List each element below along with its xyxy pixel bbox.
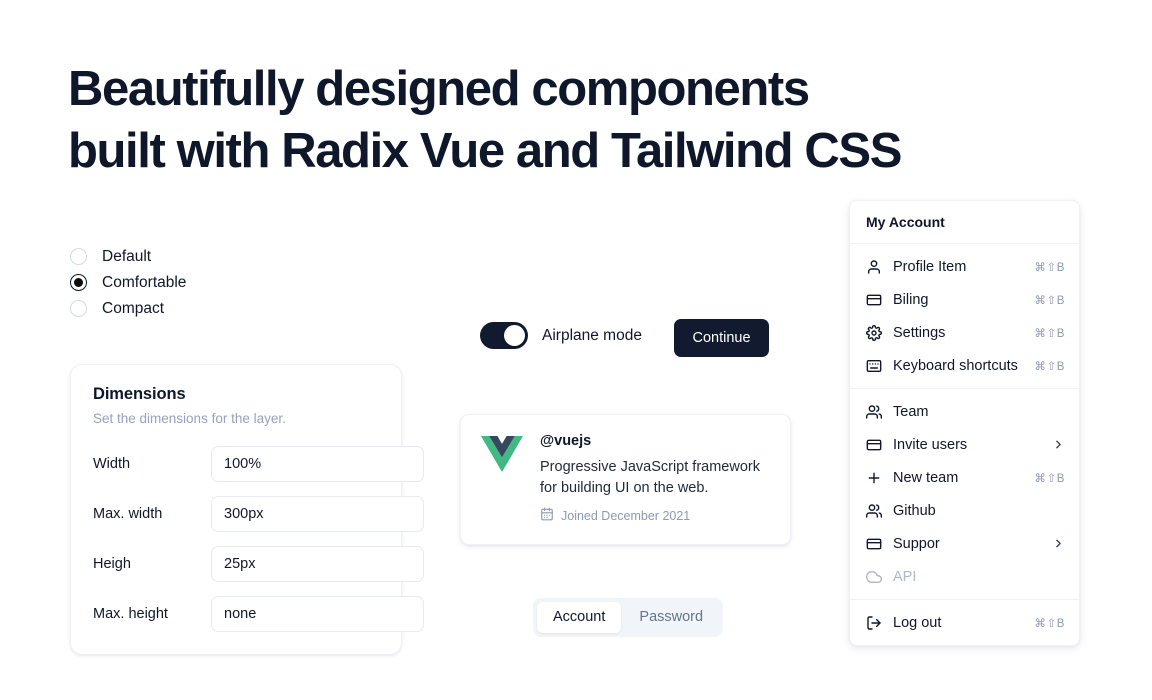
plus-icon [866,470,882,486]
menu-item-label: Biling [893,292,1023,308]
hover-card-joined: Joined December 2021 [540,507,770,524]
menu-item-label: Invite users [893,437,1041,453]
menu-item-shortcut: ⌘⇧B [1034,471,1065,485]
dropdown-menu-my-account: My Account Profile Item⌘⇧BBiling⌘⇧BSetti… [849,200,1080,646]
airplane-mode-switch[interactable] [480,322,528,349]
menu-label: My Account [850,201,1079,243]
keyboard-icon [866,358,882,374]
menu-item-keyboard-shortcuts[interactable]: Keyboard shortcuts⌘⇧B [850,349,1079,382]
hover-card-joined-text: Joined December 2021 [561,509,690,523]
radio-indicator-icon[interactable] [70,300,87,317]
radio-option-default[interactable]: Default [70,248,186,265]
radio-option-label: Comfortable [102,275,186,291]
menu-item-team[interactable]: Team [850,395,1079,428]
menu-item-github[interactable]: Github [850,494,1079,527]
hover-card-body: @vuejs Progressive JavaScript framework … [540,433,770,524]
radio-option-label: Default [102,249,151,265]
dimensions-card: Dimensions Set the dimensions for the la… [70,364,402,655]
dimension-label: Heigh [93,556,211,572]
dimension-row: Heigh [93,546,379,582]
menu-item-settings[interactable]: Settings⌘⇧B [850,316,1079,349]
menu-item-label: Settings [893,325,1023,341]
airplane-mode-label: Airplane mode [542,327,642,345]
menu-item-label: Github [893,503,1065,519]
dimensions-fields: WidthMax. widthHeighMax. height [93,446,379,632]
dimension-input[interactable] [211,596,424,632]
hover-card-description: Progressive JavaScript framework for bui… [540,457,770,499]
menu-group: TeamInvite usersNew team⌘⇧BGithubSupporA… [850,389,1079,599]
menu-item-label: Team [893,404,1065,420]
radio-option-comfortable[interactable]: Comfortable [70,274,186,291]
continue-button[interactable]: Continue [674,319,769,357]
menu-item-biling[interactable]: Biling⌘⇧B [850,283,1079,316]
menu-item-label: New team [893,470,1023,486]
menu-item-label: API [893,569,1065,585]
menu-item-suppor[interactable]: Suppor [850,527,1079,560]
dimension-input[interactable] [211,446,424,482]
dimension-label: Max. height [93,606,211,622]
menu-item-invite-users[interactable]: Invite users [850,428,1079,461]
menu-group: Profile Item⌘⇧BBiling⌘⇧BSettings⌘⇧BKeybo… [850,244,1079,388]
menu-item-profile-item[interactable]: Profile Item⌘⇧B [850,250,1079,283]
dimensions-card-description: Set the dimensions for the layer. [93,411,379,426]
users-icon [866,503,882,519]
menu-item-api: API [850,560,1079,593]
menu-item-shortcut: ⌘⇧B [1034,359,1065,373]
dimension-input[interactable] [211,496,424,532]
tab-password[interactable]: Password [623,602,719,633]
menu-item-log-out[interactable]: Log out⌘⇧B [850,606,1079,639]
dimension-row: Max. width [93,496,379,532]
credit-card-icon [866,536,882,552]
radio-indicator-icon[interactable] [70,274,87,291]
hover-card-vuejs: @vuejs Progressive JavaScript framework … [460,414,791,545]
cloud-icon [866,569,882,585]
menu-item-label: Keyboard shortcuts [893,358,1023,374]
dimensions-card-title: Dimensions [93,385,379,404]
airplane-mode-row: Airplane mode [480,322,642,349]
chevron-right-icon [1052,537,1065,550]
radio-option-label: Compact [102,301,164,317]
hover-card-handle: @vuejs [540,433,770,449]
log-out-icon [866,615,882,631]
menu-item-shortcut: ⌘⇧B [1034,326,1065,340]
radio-group-density: DefaultComfortableCompact [70,248,186,317]
radio-option-compact[interactable]: Compact [70,300,186,317]
dimension-input[interactable] [211,546,424,582]
users-icon [866,404,882,420]
gear-icon [866,325,882,341]
page-title: Beautifully designed components built wi… [68,58,1028,182]
calendar-icon [540,507,554,524]
dimension-label: Max. width [93,506,211,522]
menu-item-shortcut: ⌘⇧B [1034,616,1065,630]
credit-card-icon [866,437,882,453]
menu-item-label: Suppor [893,536,1041,552]
menu-item-shortcut: ⌘⇧B [1034,260,1065,274]
dimension-row: Width [93,446,379,482]
radio-indicator-icon[interactable] [70,248,87,265]
menu-group: Log out⌘⇧B [850,600,1079,645]
chevron-right-icon [1052,438,1065,451]
user-icon [866,259,882,275]
credit-card-icon [866,292,882,308]
menu-item-label: Profile Item [893,259,1023,275]
page-root: Beautifully designed components built wi… [0,0,1152,700]
menu-item-new-team[interactable]: New team⌘⇧B [850,461,1079,494]
vue-logo-icon [481,436,523,474]
tab-account[interactable]: Account [537,602,621,633]
tabs-account-password: AccountPassword [533,598,723,637]
menu-groups: Profile Item⌘⇧BBiling⌘⇧BSettings⌘⇧BKeybo… [850,244,1079,645]
dimension-label: Width [93,456,211,472]
dimension-row: Max. height [93,596,379,632]
switch-knob-icon [504,325,525,346]
menu-item-label: Log out [893,615,1023,631]
menu-item-shortcut: ⌘⇧B [1034,293,1065,307]
